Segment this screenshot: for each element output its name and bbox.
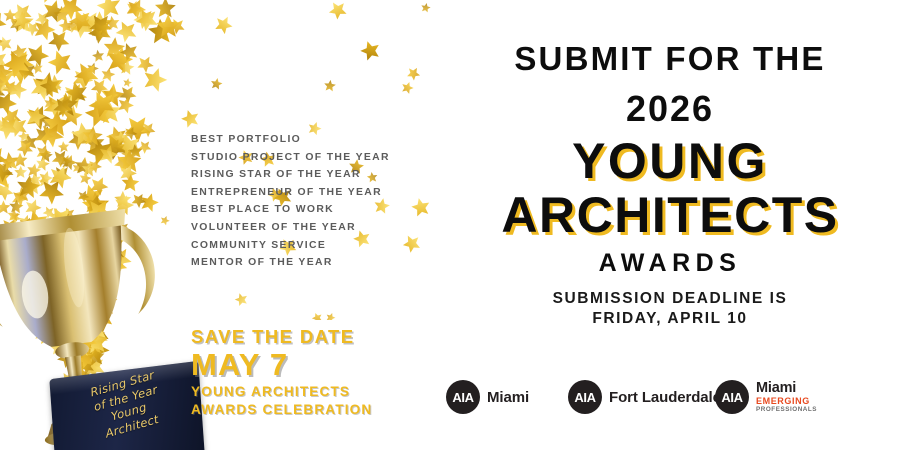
category-item: BEST PLACE TO WORK [191,201,421,219]
deadline-line-2: FRIDAY, APRIL 10 [440,309,900,329]
event-date: MAY 7 [191,348,426,382]
headline-panel: SUBMIT FOR THE 2026 YOUNG ARCHITECTS AWA… [440,0,900,450]
poster-canvas: Rising Star of the Year Young Architect … [0,0,900,450]
aia-mark-text: AIA [721,390,742,405]
logo-mep-professionals: PROFESSIONALS [756,407,817,413]
headline-young: YOUNG [440,133,900,189]
logo-aia-fort-lauderdale-label: Fort Lauderdale [609,389,721,406]
category-item: RISING STAR OF THE YEAR [191,166,421,184]
submission-deadline: SUBMISSION DEADLINE IS FRIDAY, APRIL 10 [440,289,900,329]
category-item: BEST PORTFOLIO [191,131,421,149]
save-the-date-label: SAVE THE DATE [191,326,426,347]
category-item: COMMUNITY SERVICE [191,237,421,255]
logo-aia-miami: AIA Miami [446,375,529,419]
aia-mark-text: AIA [452,390,473,405]
headline-awards: AWARDS [440,248,900,278]
category-item: VOLUNTEER OF THE YEAR [191,219,421,237]
aia-mark-text: AIA [574,390,595,405]
category-item: MENTOR OF THE YEAR [191,254,421,272]
aia-circle-icon: AIA [568,380,602,414]
deadline-line-1: SUBMISSION DEADLINE IS [553,290,788,307]
logo-mep-emerging: EMERGING [756,397,817,406]
headline-line-1: SUBMIT FOR THE [440,40,900,78]
category-item: ENTREPRENEUR OF THE YEAR [191,184,421,202]
award-categories-list: BEST PORTFOLIOSTUDIO PROJECT OF THE YEAR… [191,131,421,272]
save-the-date-block: SAVE THE DATE MAY 7 YOUNG ARCHITECTS AWA… [191,326,426,419]
logo-mep-stack: Miami EMERGING PROFESSIONALS [756,381,817,414]
event-name-line-2: AWARDS CELEBRATION [191,402,426,418]
logo-aia-miami-emerging-professionals: AIA Miami EMERGING PROFESSIONALS [715,375,817,419]
logo-aia-miami-label: Miami [487,389,529,406]
headline-architects: ARCHITECTS [440,187,900,243]
event-name-line-1: YOUNG ARCHITECTS [191,384,426,400]
logo-mep-city: Miami [756,381,817,396]
sponsor-logos: AIA Miami AIA Fort Lauderdale AIA Miami … [440,375,900,427]
aia-circle-icon: AIA [446,380,480,414]
headline-year: 2026 [440,88,900,130]
aia-circle-icon: AIA [715,380,749,414]
logo-aia-fort-lauderdale: AIA Fort Lauderdale [568,375,721,419]
category-item: STUDIO PROJECT OF THE YEAR [191,149,421,167]
